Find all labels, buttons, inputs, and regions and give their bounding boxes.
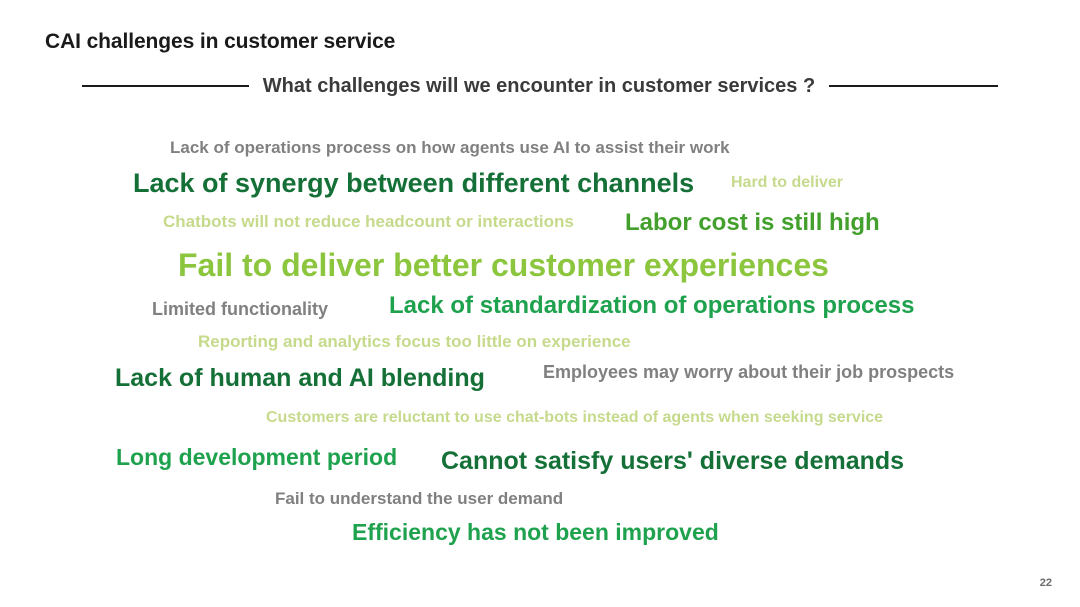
- word-cloud-term: Labor cost is still high: [625, 211, 880, 235]
- word-cloud-term: Employees may worry about their job pros…: [543, 363, 954, 381]
- word-cloud-term: Cannot satisfy users' diverse demands: [441, 449, 904, 474]
- word-cloud-term: Customers are reluctant to use chat-bots…: [266, 410, 883, 426]
- word-cloud-term: Long development period: [116, 446, 397, 469]
- slide-canvas: CAI challenges in customer service What …: [0, 0, 1080, 607]
- word-cloud-term: Lack of standardization of operations pr…: [389, 294, 914, 318]
- word-cloud-term: Limited functionality: [152, 300, 328, 318]
- word-cloud-term: Lack of synergy between different channe…: [133, 170, 694, 197]
- page-number: 22: [1040, 577, 1052, 589]
- word-cloud-term: Fail to deliver better customer experien…: [178, 249, 829, 281]
- word-cloud-term: Hard to deliver: [731, 175, 843, 191]
- word-cloud-term: Fail to understand the user demand: [275, 490, 563, 507]
- word-cloud-term: Chatbots will not reduce headcount or in…: [163, 213, 574, 230]
- word-cloud: Lack of operations process on how agents…: [0, 0, 1080, 607]
- word-cloud-term: Efficiency has not been improved: [352, 521, 719, 544]
- word-cloud-term: Reporting and analytics focus too little…: [198, 333, 631, 350]
- word-cloud-term: Lack of operations process on how agents…: [170, 139, 730, 156]
- word-cloud-term: Lack of human and AI blending: [115, 366, 485, 391]
